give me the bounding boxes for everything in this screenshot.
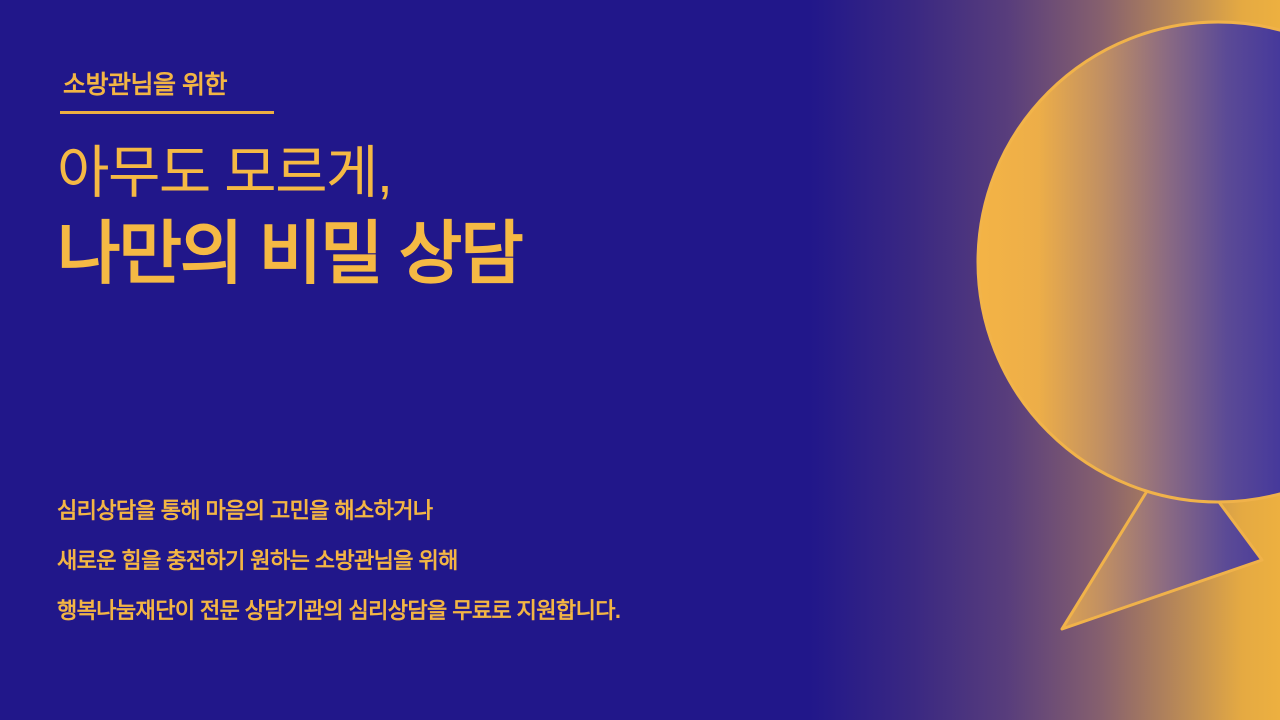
eyebrow-text: 소방관님을 위한 <box>60 72 274 100</box>
body-line-1: 심리상담을 통해 마음의 고민을 해소하거나 <box>57 500 877 522</box>
eyebrow-block: 소방관님을 위한 <box>60 72 274 114</box>
headline-line-1: 아무도 모르게, <box>57 140 877 207</box>
page-title: 아무도 모르게, 나만의 비밀 상담 <box>57 140 877 293</box>
background-gradient-band <box>810 0 1280 720</box>
eyebrow-underline <box>60 111 274 114</box>
body-line-3: 행복나눔재단이 전문 상담기관의 심리상담을 무료로 지원합니다. <box>57 600 877 622</box>
body-line-2: 새로운 힘을 충전하기 원하는 소방관님을 위해 <box>57 550 877 572</box>
body-copy-block: 심리상담을 통해 마음의 고민을 해소하거나 새로운 힘을 충전하기 원하는 소… <box>57 500 877 622</box>
slide-content: 소방관님을 위한 아무도 모르게, 나만의 비밀 상담 심리상담을 통해 마음의… <box>0 0 880 720</box>
headline-line-2: 나만의 비밀 상담 <box>57 215 877 292</box>
slide-canvas: 소방관님을 위한 아무도 모르게, 나만의 비밀 상담 심리상담을 통해 마음의… <box>0 0 1280 720</box>
